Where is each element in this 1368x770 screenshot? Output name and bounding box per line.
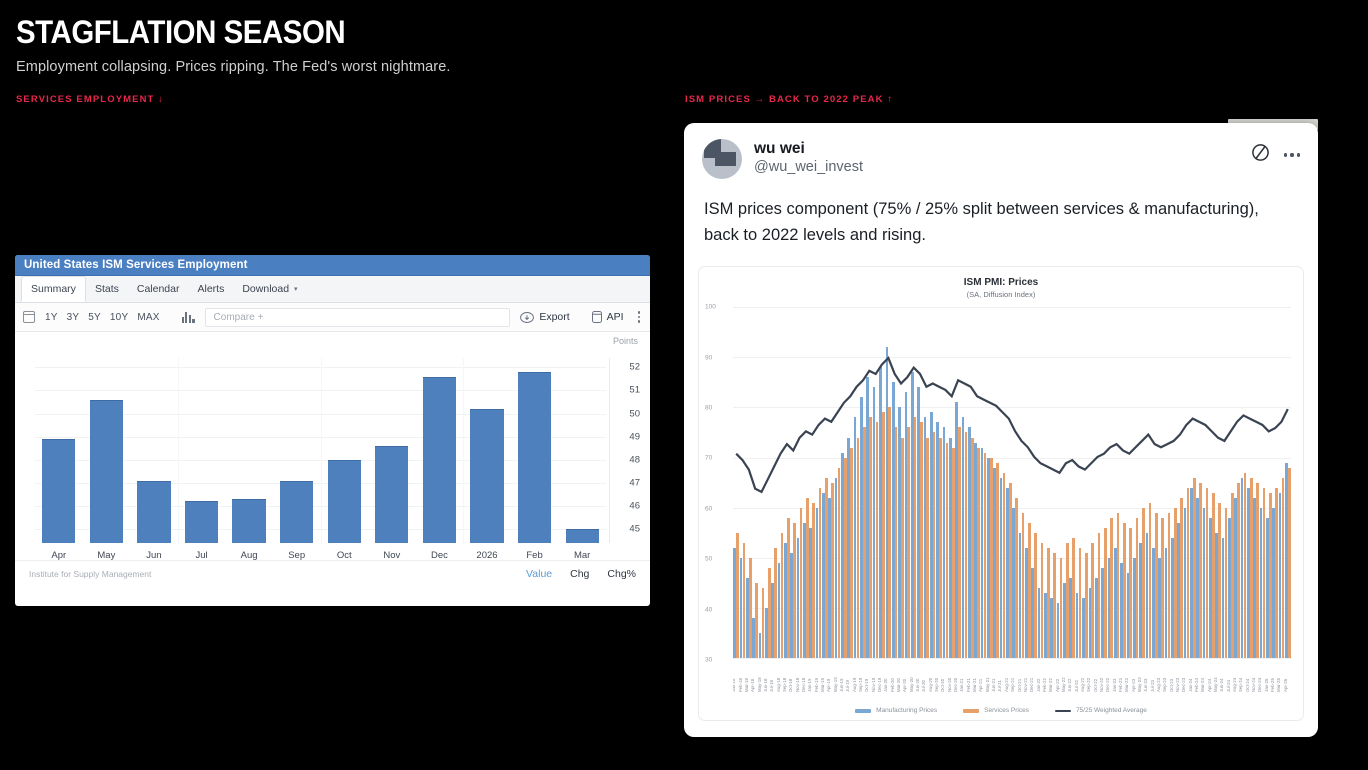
panel-tabs: Summary Stats Calendar Alerts Download ▾ [15,276,650,303]
embed-plot-area [733,307,1291,658]
x-tick-label: Dec-19 [877,678,882,692]
x-tick-label: Feb-20 [890,678,895,692]
y-axis-unit-label: Points [613,336,638,346]
y-tick-label: 100 [705,304,716,311]
bar-column[interactable] [562,358,603,543]
x-tick-label: Jan-20 [883,679,888,692]
tab-calendar-label: Calendar [137,283,180,295]
calendar-icon[interactable] [23,311,35,323]
bar[interactable] [185,501,218,543]
tweet-text: ISM prices component (75% / 25% split be… [684,179,1318,252]
x-tick-label: Jan-24 [1188,679,1193,692]
x-tick-label: Jan-22 [1036,679,1041,692]
bar-series [35,358,606,543]
x-tick-label: Aug-22 [1080,678,1085,692]
x-tick-label: Feb-25 [1270,678,1275,692]
x-tick-label: Aug-20 [928,678,933,692]
embed-bar-series [733,307,1291,658]
bar[interactable] [232,499,265,543]
x-tick-label: Jun-24 [1219,679,1224,692]
x-tick-label: Apr-24 [1207,679,1212,692]
tweet-actions [1251,139,1300,167]
kebab-menu-icon[interactable] [638,311,640,322]
x-tick-label: Feb-22 [1042,678,1047,692]
employment-bar-chart: Points 4546474849505152 AprMayJunJulAugS… [15,332,650,587]
bar-column[interactable] [181,358,222,543]
bar[interactable] [375,446,408,543]
x-tick-label: Apr-20 [902,679,907,692]
source-note: Institute for Supply Management [29,569,151,579]
x-tick-label: Dec-24 [1257,678,1262,692]
y-tick-label: 30 [705,657,712,664]
x-tick-label: Oct-22 [1093,679,1098,692]
compare-placeholder: Compare + [214,312,264,323]
x-tick-label: Sep-23 [1162,678,1167,692]
x-tick-label: Apr-22 [1055,679,1060,692]
x-tick-label: Feb-23 [1118,678,1123,692]
x-tick-label: Sep-22 [1086,678,1091,692]
range-1y[interactable]: 1Y [45,312,58,323]
x-tick-label: Jun-18 [763,679,768,692]
value-mode-tabs: Value Chg Chg% [526,568,636,580]
x-tick-label: Aug-21 [1004,678,1009,692]
bar-column[interactable] [134,358,175,543]
x-tick-label: Nov-22 [1099,678,1104,692]
x-tick-label: Apr-19 [826,679,831,692]
x-tick-label: Jul-24 [1226,680,1231,692]
x-tick-label: Dec-23 [1181,678,1186,692]
x-tick-label: Nov-19 [871,678,876,692]
x-tick-label: Oct-24 [1245,679,1250,692]
x-tick-label: Jul-23 [1150,680,1155,692]
legend-label-manufacturing: Manufacturing Prices [876,707,937,714]
bar-column[interactable] [39,358,80,543]
export-label: Export [539,311,569,323]
bar[interactable] [518,372,551,543]
x-tick-label: Aug-18 [776,678,781,692]
tweet-header: wu wei @wu_wei_invest [684,123,1318,179]
embed-x-axis-labels: Jan-18Feb-18Mar-18Apr-18May-18Jun-18Jul-… [733,658,1291,692]
x-tick-label: Aug-23 [1156,678,1161,692]
legend-swatch-weighted [1055,710,1071,712]
x-tick-label: Jul-22 [1074,680,1079,692]
x-tick-label: Oct-21 [1017,679,1022,692]
x-tick-label: Nov-20 [947,678,952,692]
x-tick-label: Aug-19 [852,678,857,692]
tab-summary-label: Summary [31,283,76,295]
tweet-display-name: wu wei [754,139,863,158]
x-tick-label: Jun-21 [991,679,996,692]
tab-calendar[interactable]: Calendar [128,276,189,302]
x-tick-label: Dec-20 [953,678,958,692]
x-tick-label: Apr-21 [978,679,983,692]
x-tick-label: Mar-20 [896,678,901,692]
panel-toolbar: 1Y 3Y 5Y 10Y MAX Compare + Export [15,303,650,332]
tab-alerts[interactable]: Alerts [189,276,234,302]
avatar[interactable] [702,139,742,179]
x-tick-label: Jul-20 [921,680,926,692]
x-tick-label: Mar-22 [1048,678,1053,692]
tab-download[interactable]: Download ▾ [233,276,306,302]
x-tick-label: Nov-21 [1023,678,1028,692]
legend-label-services: Services Prices [984,707,1029,714]
page-subtitle: Employment collapsing. Prices ripping. T… [16,59,656,75]
y-tick-label: 90 [705,354,712,361]
y-tick-label: 70 [705,455,712,462]
tab-stats-label: Stats [95,283,119,295]
x-tick-label: Jan-21 [959,679,964,692]
tab-alerts-label: Alerts [198,283,225,295]
x-tick-label: Jun-23 [1143,679,1148,692]
x-tick-label: Apr-23 [1131,679,1136,692]
ism-services-employment-panel: United States ISM Services Employment Su… [15,255,650,606]
x-tick-label: Mar-19 [820,678,825,692]
x-tick-label: Nov-18 [795,678,800,692]
bar-column[interactable] [372,358,413,543]
x-tick-label: Feb-24 [1194,678,1199,692]
panel-titlebar: United States ISM Services Employment [15,255,650,276]
x-tick-label: Mar-21 [972,678,977,692]
x-tick-label: Dec-22 [1105,678,1110,692]
x-tick-label: May-22 [1061,677,1066,692]
y-tick-label: 80 [705,404,712,411]
page-title: STAGFLATION SEASON [16,16,605,50]
bar-services [1288,468,1291,659]
range-max[interactable]: MAX [137,312,159,323]
range-5y[interactable]: 5Y [88,312,101,323]
footer-tab-chg[interactable]: Chg [570,568,589,580]
kicker-right: ISM PRICES → BACK TO 2022 PEAK ↑ [685,94,893,105]
bar-column[interactable] [229,358,270,543]
y-tick-label: 46 [629,501,640,512]
x-tick-label: Dec-21 [1029,678,1034,692]
x-tick-label: Feb-19 [814,678,819,692]
bar[interactable] [566,529,599,543]
range-10y[interactable]: 10Y [110,312,128,323]
more-options-icon[interactable] [1284,153,1300,156]
embed-chart-title: ISM PMI: Prices [699,267,1303,288]
y-tick-label: 50 [629,408,640,419]
x-tick-label: Mar-25 [1276,678,1281,692]
y-tick-label: 47 [629,477,640,488]
cloud-download-icon [520,312,534,322]
x-tick-label: Jan-23 [1112,679,1117,692]
x-tick-label: May-21 [985,677,990,692]
plot-area [35,358,606,543]
chevron-down-icon: ▾ [294,285,298,293]
export-button[interactable]: Export [520,311,569,323]
kicker-left: SERVICES EMPLOYMENT ↓ [16,94,164,105]
x-tick-label: May-19 [833,677,838,692]
tab-summary[interactable]: Summary [21,276,86,302]
bar[interactable] [423,377,456,544]
legend-label-weighted: 75/25 Weighted Average [1076,707,1147,714]
x-tick-label: May-20 [909,677,914,692]
bar-column[interactable] [324,358,365,543]
bar[interactable] [137,481,170,543]
x-tick-label: Sep-21 [1010,678,1015,692]
bar[interactable] [470,409,503,543]
x-tick-label: May-18 [757,677,762,692]
x-tick-label: Sep-18 [782,678,787,692]
legend-item-services: Services Prices [963,707,1029,714]
x-tick-label: Feb-21 [966,678,971,692]
x-tick-label: Sep-19 [858,678,863,692]
x-tick-label: Jan-25 [1264,679,1269,692]
headline-block: STAGFLATION SEASON Employment collapsing… [16,16,656,75]
ism-prices-chart: ISM PMI: Prices (SA, Diffusion Index) 30… [698,266,1304,721]
range-3y[interactable]: 3Y [67,312,80,323]
y-tick-label: 40 [705,606,712,613]
y-tick-label: 60 [705,505,712,512]
bar-column [1285,307,1291,658]
legend-item-weighted: 75/25 Weighted Average [1055,707,1147,714]
x-tick-label: Jun-20 [915,679,920,692]
y-tick-label: 51 [629,385,640,396]
footer-tab-chgpct[interactable]: Chg% [607,568,636,580]
y-tick-label: 45 [629,524,640,535]
x-tick-label: Sep-20 [934,678,939,692]
database-icon [592,311,602,323]
y-tick-label: 52 [629,362,640,373]
x-tick-label: Mar-24 [1200,678,1205,692]
x-tick-label: Jan-19 [807,679,812,692]
x-tick-label: Jan-18 [733,679,736,692]
panel-footer: Institute for Supply Management Value Ch… [15,560,650,587]
slashed-circle-icon[interactable] [1251,143,1270,167]
x-tick-label: Nov-23 [1175,678,1180,692]
x-tick-label: Sep-24 [1238,678,1243,692]
x-tick-label: Mar-23 [1124,678,1129,692]
x-tick-label: Oct-23 [1169,679,1174,692]
x-tick-label: Jul-19 [845,680,850,692]
tweet-handle: @wu_wei_invest [754,158,863,177]
x-tick-label: Jun-22 [1067,679,1072,692]
embed-legend: Manufacturing Prices Services Prices 75/… [699,707,1303,714]
screen-root: STAGFLATION SEASON Employment collapsing… [0,0,1368,770]
tweet-identity: wu wei @wu_wei_invest [754,139,863,177]
y-tick-label: 48 [629,454,640,465]
x-tick-label: Oct-18 [788,679,793,692]
tab-stats[interactable]: Stats [86,276,128,302]
y-axis-labels: 4546474849505152 [610,358,640,543]
x-tick-label: Oct-20 [940,679,945,692]
x-tick-label: May-24 [1213,677,1218,692]
legend-swatch-services [963,709,979,713]
x-tick-label: Aug-24 [1232,678,1237,692]
embed-chart-subtitle: (SA, Diffusion Index) [699,290,1303,299]
compare-input[interactable]: Compare + [205,308,511,327]
x-tick-label: Jul-18 [769,680,774,692]
panel-title: United States ISM Services Employment [24,259,248,271]
bar-column[interactable] [514,358,555,543]
y-tick-label: 50 [705,556,712,563]
tweet-card: wu wei @wu_wei_invest ISM prices compone… [684,123,1318,737]
bar-column[interactable] [419,358,460,543]
bar[interactable] [328,460,361,543]
x-tick-label: Apr-25 [1283,679,1288,692]
x-tick-label: Feb-18 [738,678,743,692]
legend-item-manufacturing: Manufacturing Prices [855,707,937,714]
bar[interactable] [90,400,123,543]
api-label: API [607,311,624,323]
api-button[interactable]: API [592,311,624,323]
legend-swatch-manufacturing [855,709,871,713]
x-tick-label: Mar-18 [744,678,749,692]
x-tick-label: Dec-18 [801,678,806,692]
bar-column[interactable] [276,358,317,543]
bar-column[interactable] [86,358,127,543]
tab-download-label: Download [242,283,289,295]
y-tick-label: 49 [629,431,640,442]
x-tick-label: Oct-19 [864,679,869,692]
x-tick-label: May-23 [1137,677,1142,692]
bar[interactable] [280,481,313,543]
bar-chart-icon[interactable] [182,311,195,323]
bar-column[interactable] [467,358,508,543]
x-tick-label: Jun-19 [839,679,844,692]
footer-tab-value[interactable]: Value [526,568,552,580]
x-tick-label: Nov-24 [1251,678,1256,692]
x-tick-label: Apr-18 [750,679,755,692]
bar[interactable] [42,439,75,543]
x-tick-label: Jul-21 [997,680,1002,692]
